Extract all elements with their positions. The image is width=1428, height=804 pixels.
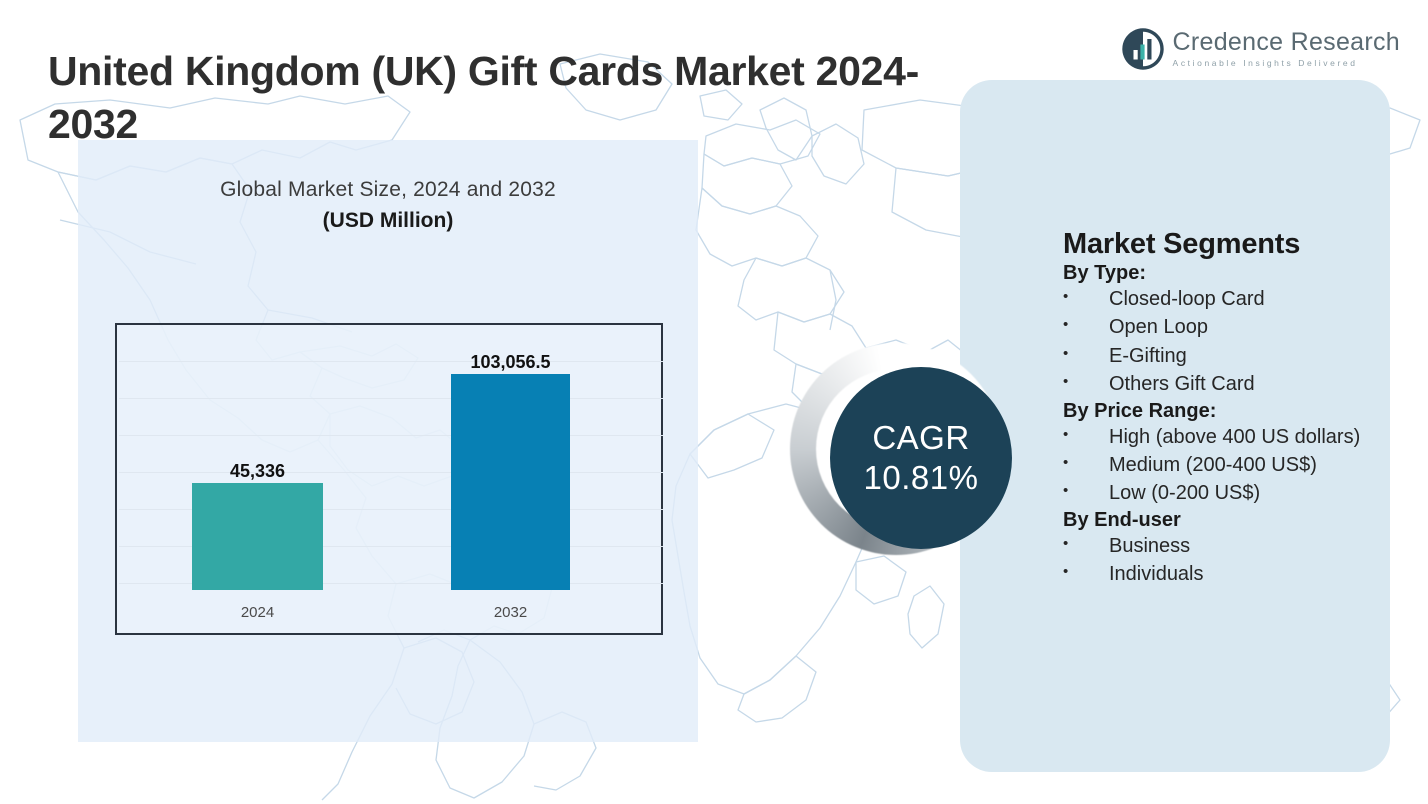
segment-item-label: Business: [1109, 532, 1403, 560]
segment-group-title-by-price-range: By Price Range:: [1063, 400, 1403, 423]
market-segments-content: Market Segments By Type: • Closed-loop C…: [1063, 228, 1403, 589]
list-item[interactable]: • Others Gift Card: [1063, 370, 1403, 398]
cagr-badge: CAGR 10.81%: [790, 343, 1022, 575]
list-item[interactable]: • Open Loop: [1063, 313, 1403, 341]
segment-group-title-by-end-user: By End-user: [1063, 509, 1403, 532]
bullet-icon: •: [1063, 313, 1109, 336]
list-item[interactable]: • E-Gifting: [1063, 342, 1403, 370]
bar-2032[interactable]: [451, 374, 570, 590]
cagr-label: CAGR: [872, 419, 969, 457]
brand-logo: Credence Research Actionable Insights De…: [1122, 28, 1400, 70]
category-label-2024: 2024: [192, 604, 323, 621]
category-label-2032: 2032: [451, 604, 570, 621]
segment-item-label: High (above 400 US dollars): [1109, 423, 1403, 451]
bullet-icon: •: [1063, 560, 1109, 583]
segment-item-label: Others Gift Card: [1109, 370, 1403, 398]
logo-tagline: Actionable Insights Delivered: [1173, 59, 1400, 68]
list-item[interactable]: • Individuals: [1063, 560, 1403, 588]
segment-item-label: Closed-loop Card: [1109, 285, 1403, 313]
chart-heading-line2: (USD Million): [78, 209, 698, 233]
bar-label-2032: 103,056.5: [421, 352, 600, 373]
bar-2024[interactable]: [192, 483, 323, 590]
segment-item-label: Medium (200-400 US$): [1109, 451, 1403, 479]
bullet-icon: •: [1063, 285, 1109, 308]
segment-item-label: Low (0-200 US$): [1109, 479, 1403, 507]
bullet-icon: •: [1063, 423, 1109, 446]
segment-group-title-by-type: By Type:: [1063, 262, 1403, 285]
list-item[interactable]: • Business: [1063, 532, 1403, 560]
chart-heading-line1: Global Market Size, 2024 and 2032: [78, 178, 698, 202]
list-item[interactable]: • Medium (200-400 US$): [1063, 451, 1403, 479]
list-item[interactable]: • Closed-loop Card: [1063, 285, 1403, 313]
cagr-value: 10.81%: [864, 459, 979, 497]
bullet-icon: •: [1063, 451, 1109, 474]
bar-chart-plot-area: 45,336 2024 103,056.5 2032: [115, 323, 663, 635]
segment-item-label: Open Loop: [1109, 313, 1403, 341]
chart-heading: Global Market Size, 2024 and 2032 (USD M…: [78, 178, 698, 233]
segments-heading: Market Segments: [1063, 228, 1403, 261]
bar-chart-circle-icon: [1122, 28, 1164, 70]
bullet-icon: •: [1063, 370, 1109, 393]
logo-name: Credence Research: [1173, 30, 1400, 55]
cagr-circle: CAGR 10.81%: [830, 367, 1012, 549]
bullet-icon: •: [1063, 479, 1109, 502]
bar-label-2024: 45,336: [192, 461, 323, 482]
bullet-icon: •: [1063, 532, 1109, 555]
segment-item-label: Individuals: [1109, 560, 1403, 588]
segment-item-label: E-Gifting: [1109, 342, 1403, 370]
bullet-icon: •: [1063, 342, 1109, 365]
list-item[interactable]: • Low (0-200 US$): [1063, 479, 1403, 507]
list-item[interactable]: • High (above 400 US dollars): [1063, 423, 1403, 451]
page-title: United Kingdom (UK) Gift Cards Market 20…: [48, 45, 988, 150]
logo-text-block: Credence Research Actionable Insights De…: [1173, 30, 1400, 68]
